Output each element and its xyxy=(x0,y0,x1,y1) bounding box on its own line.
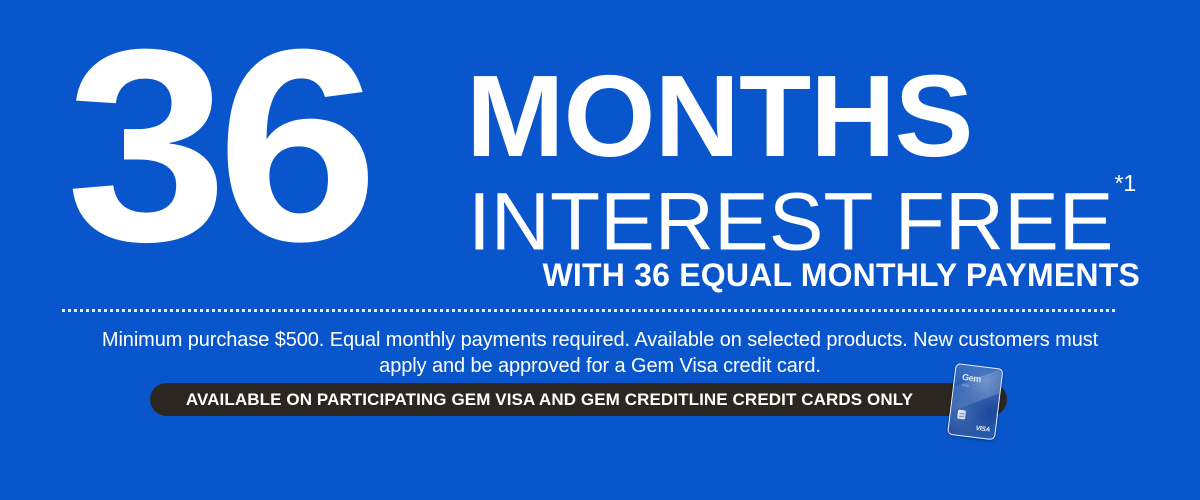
fineprint-text: Minimum purchase $500. Equal monthly pay… xyxy=(0,327,1200,379)
gem-logo-sub: visa xyxy=(962,383,969,388)
months-count-number: 36 xyxy=(66,0,368,296)
hero-text-block: MONTHS INTEREST FREE*1 WITH 36 EQUAL MON… xyxy=(466,0,1142,300)
dotted-divider xyxy=(62,309,1118,312)
card-chip-icon xyxy=(957,410,966,420)
promo-banner: 36 MONTHS INTEREST FREE*1 WITH 36 EQUAL … xyxy=(0,0,1200,500)
visa-network-logo: VISA xyxy=(975,425,990,434)
eligibility-badge-label: AVAILABLE ON PARTICIPATING GEM VISA AND … xyxy=(150,383,1007,416)
headline-interest-free: INTEREST FREE*1 xyxy=(468,172,1135,263)
gem-visa-card: Gem visa VISA xyxy=(947,363,1003,440)
headline-months: MONTHS xyxy=(466,58,973,174)
subheadline-equal-payments: WITH 36 EQUAL MONTHLY PAYMENTS xyxy=(543,258,1141,292)
footnote-marker: *1 xyxy=(1114,170,1136,196)
credit-card-icon: Gem visa VISA xyxy=(947,363,1010,445)
card-sheen xyxy=(947,363,1003,413)
headline-interest-free-text: INTEREST FREE xyxy=(468,176,1113,267)
hero-section: 36 MONTHS INTEREST FREE*1 WITH 36 EQUAL … xyxy=(0,0,1200,300)
eligibility-badge: AVAILABLE ON PARTICIPATING GEM VISA AND … xyxy=(150,383,1007,416)
